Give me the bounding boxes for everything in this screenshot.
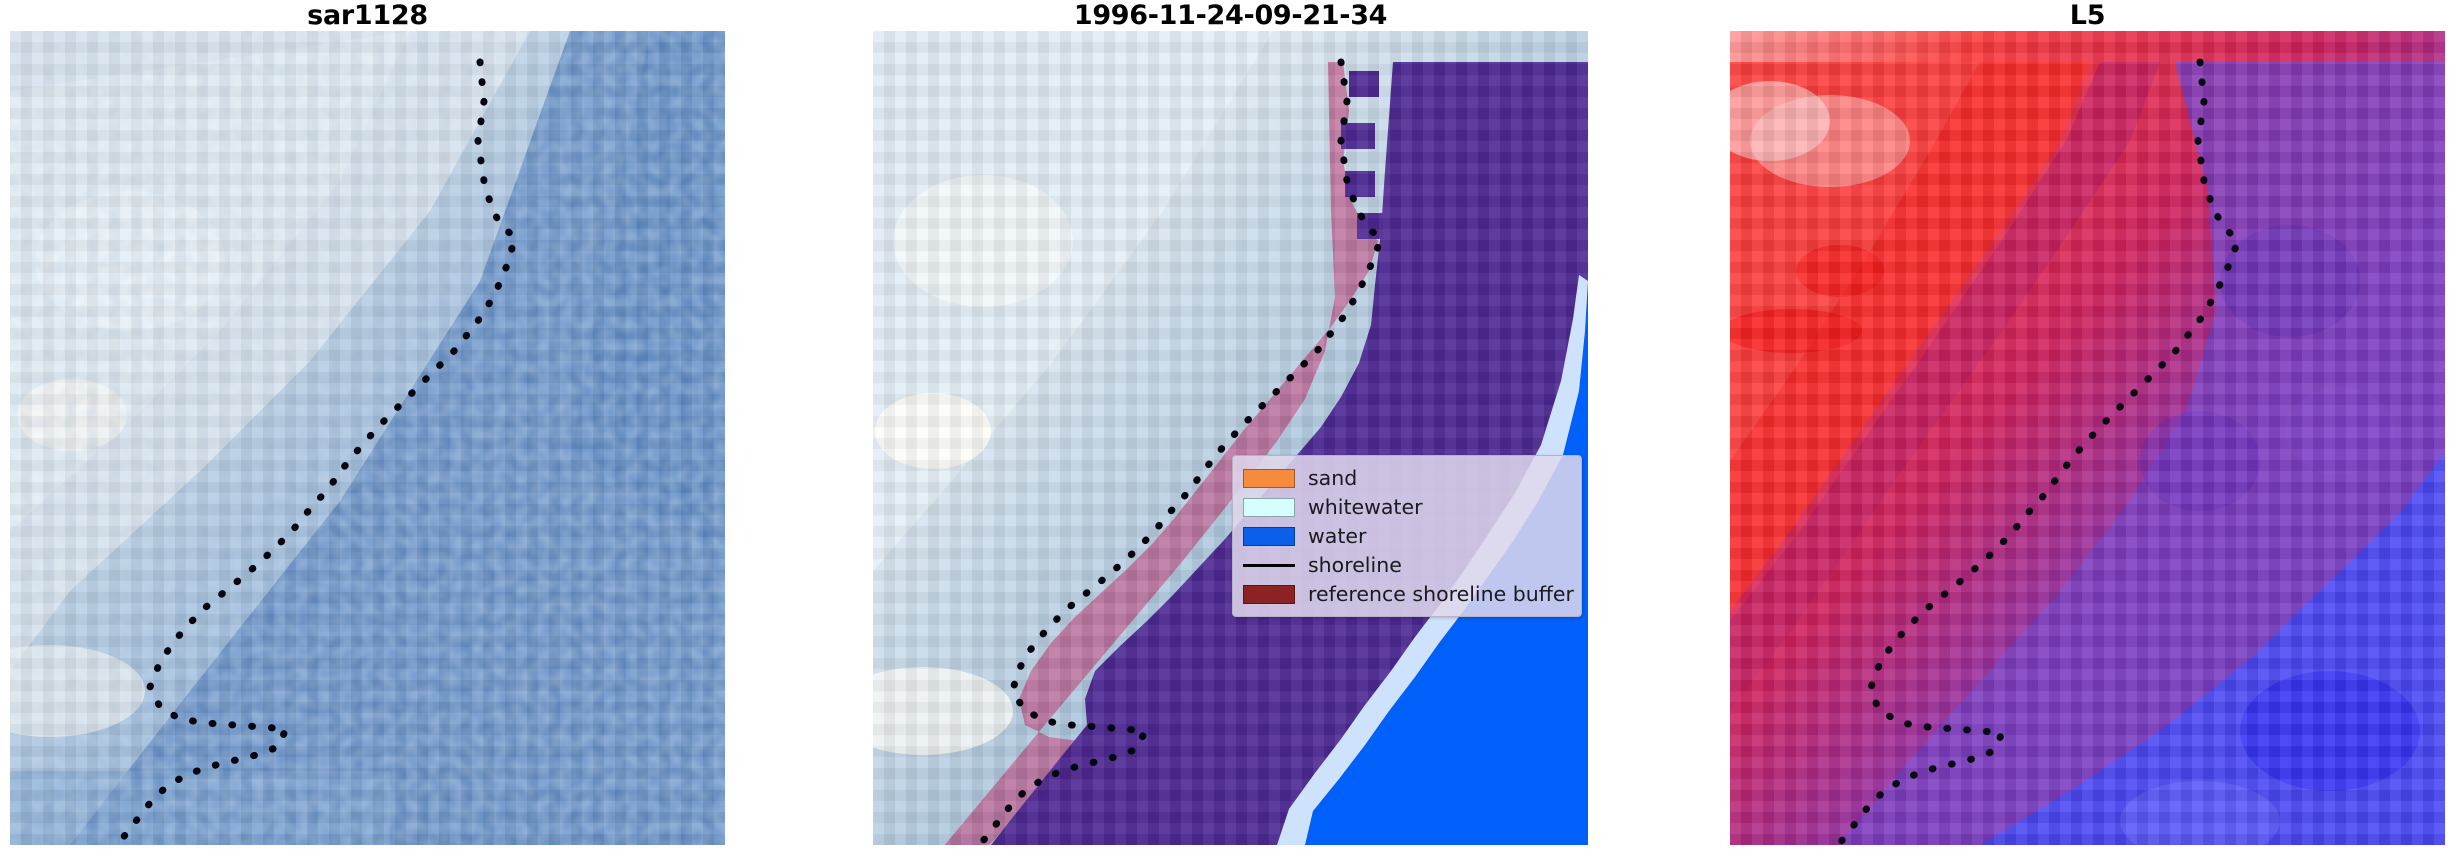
shoreline-dotted-path-l5 [1730,31,2445,845]
legend-item-sand[interactable]: sand [1243,464,1571,492]
shoreline-line-icon [1243,564,1295,567]
legend-label-whitewater: whitewater [1308,495,1423,519]
legend-label-reference-buffer: reference shoreline buffer [1308,582,1574,606]
panel-sar-image[interactable] [10,31,725,845]
legend-item-water[interactable]: water [1243,522,1571,550]
whitewater-swatch-icon [1243,498,1295,517]
panel-title-sar: sar1128 [10,2,725,29]
legend[interactable]: sand whitewater water shoreline referenc… [1232,455,1582,617]
legend-label-shoreline: shoreline [1308,553,1402,577]
shoreline-dotted-path-classified [873,31,1588,845]
panel-title-l5: L5 [1730,2,2445,29]
legend-label-water: water [1308,524,1366,548]
shoreline-comparison-figure: sar1128 1996-11-24-09-21-34 L5 [0,0,2460,859]
panel-title-datetime: 1996-11-24-09-21-34 [873,2,1588,29]
reference-buffer-swatch-icon [1243,585,1295,604]
water-swatch-icon [1243,527,1295,546]
legend-item-whitewater[interactable]: whitewater [1243,493,1571,521]
panel-l5-composite[interactable] [1730,31,2445,845]
legend-item-reference-buffer[interactable]: reference shoreline buffer [1243,580,1571,608]
legend-item-shoreline[interactable]: shoreline [1243,551,1571,579]
sand-swatch-icon [1243,469,1295,488]
panel-classification-overlay[interactable] [873,31,1588,845]
legend-label-sand: sand [1308,466,1357,490]
shoreline-dotted-path-sar [10,31,725,845]
